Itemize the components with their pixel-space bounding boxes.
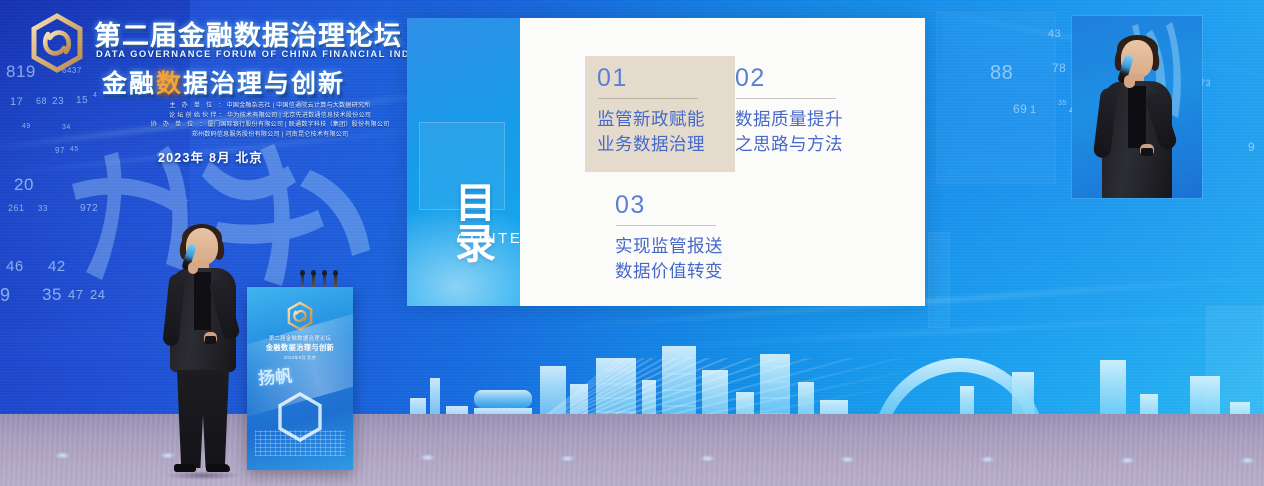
agenda-index: 01 — [597, 66, 735, 91]
organizer-value: 厦门国际银行股份有限公司 | 联通数字科技（集团）股份有限公司 — [208, 121, 390, 128]
slide-toc-title-cn: 目录 — [455, 183, 520, 265]
agenda-divider — [616, 225, 716, 226]
agenda-index: 02 — [735, 66, 843, 91]
presenter-on-stage — [160, 228, 246, 478]
subtitle-suffix: 据治理与创新 — [183, 70, 345, 98]
forum-title-en: DATA GOVERNANCE FORUM OF CHINA FINANCIAL… — [96, 48, 449, 59]
organizer-value: 中国金融杂志社 | 中国信通院云计算与大数据研究所 — [227, 102, 371, 109]
organizer-value: 华为技术有限公司 | 北京先进数通信息技术股份公司 — [227, 112, 371, 119]
podium-title-cn: 第二届金融数据治理论坛 — [247, 334, 353, 342]
organizer-value: 郑州数码信息服务股份有限公司 | 河南昆仑技术有限公司 — [192, 131, 349, 138]
forum-subtitle: 金融数据治理与创新 — [102, 64, 345, 100]
floor-light — [1120, 457, 1135, 464]
forum-logo-icon — [26, 12, 88, 74]
presentation-clicker-icon — [1141, 148, 1153, 156]
podium-calligraphy: 扬帆 — [257, 362, 293, 390]
floor-light — [980, 456, 995, 463]
conference-stage-scene: 8196437176823154493497452026133972464293… — [0, 0, 1264, 486]
date-location: 2023年 8月 北京 — [158, 147, 263, 166]
speaker-in-feed — [1094, 40, 1180, 198]
organizer-line: 协 办 单 位 ：厦门国际银行股份有限公司 | 联通数字科技（集团）股份有限公司 — [114, 120, 426, 130]
slide-left-panel: 目录 CONTENTS — [407, 18, 520, 306]
podium-date-location: 2023年8月 北京 — [247, 355, 353, 361]
slide-agenda-item-03: 03 实现监管报送 数据价值转变 — [615, 193, 723, 284]
organizer-label: 协 办 单 位 ： — [151, 121, 208, 128]
speaker-inner-top — [1128, 86, 1146, 148]
organizer-label: 论坛创始伙伴： — [169, 112, 227, 119]
agenda-divider — [736, 98, 836, 99]
organizer-credits: 主 办 单 位 ：中国金融杂志社 | 中国信通院云计算与大数据研究所论坛创始伙伴… — [114, 101, 426, 139]
floor-light — [560, 455, 575, 462]
agenda-divider — [598, 98, 698, 99]
slide-agenda-item-02: 02 数据质量提升 之思路与方法 — [735, 66, 843, 157]
subtitle-prefix: 金融 — [102, 70, 156, 98]
floor-light — [840, 456, 855, 463]
organizer-line: 郑州数码信息服务股份有限公司 | 河南昆仑技术有限公司 — [114, 130, 426, 140]
slide-content-panel: 01 监管新政赋能 业务数据治理 02 数据质量提升 之思路与方法 03 实现监… — [520, 18, 925, 306]
presenter-inner-top — [194, 272, 211, 330]
presentation-clicker-icon — [205, 336, 216, 344]
floor-light — [55, 452, 70, 459]
agenda-index: 03 — [615, 193, 723, 218]
presenter-hand-holding-mic — [188, 262, 198, 274]
slide-agenda-item-01: 01 监管新政赋能 业务数据治理 — [585, 56, 735, 172]
organizer-line: 论坛创始伙伴：华为技术有限公司 | 北京先进数通信息技术股份公司 — [114, 111, 426, 121]
agenda-text: 实现监管报送 数据价值转变 — [615, 234, 723, 284]
organizer-label: 主 办 单 位 ： — [169, 102, 226, 109]
organizer-line: 主 办 单 位 ：中国金融杂志社 | 中国信通院云计算与大数据研究所 — [114, 101, 426, 111]
subtitle-highlight: 数 — [156, 70, 183, 98]
floor-light — [700, 455, 715, 462]
agenda-text: 数据质量提升 之思路与方法 — [735, 107, 843, 157]
presenter-shoe — [206, 464, 230, 472]
speaker-camera-feed — [1072, 16, 1202, 198]
wall-panel — [936, 12, 1056, 184]
presentation-slide: 目录 CONTENTS 01 监管新政赋能 业务数据治理 02 数据质量提升 之… — [407, 18, 925, 306]
slide-toc-title-en: CONTENTS — [457, 230, 520, 247]
podium-subtitle: 金融数据治理与创新 — [247, 343, 353, 353]
speaker-podium: 第二届金融数据治理论坛 金融数据治理与创新 2023年8月 北京 扬帆 — [247, 287, 353, 470]
presenter-legs — [177, 370, 229, 468]
speaker-hand-holding-mic — [1124, 75, 1135, 88]
backdrop-title-block: 第二届金融数据治理论坛 DATA GOVERNANCE FORUM OF CHI… — [18, 6, 418, 176]
presenter-shadow — [164, 471, 242, 480]
floor-light — [1240, 457, 1255, 464]
podium-forum-logo-icon — [285, 301, 315, 331]
slide-decorative-square — [419, 122, 505, 210]
podium-grid-pattern — [255, 430, 345, 456]
presenter-shoe — [174, 464, 196, 472]
agenda-text: 监管新政赋能 业务数据治理 — [597, 107, 735, 157]
wall-panel — [928, 232, 950, 328]
floor-light — [420, 454, 435, 461]
